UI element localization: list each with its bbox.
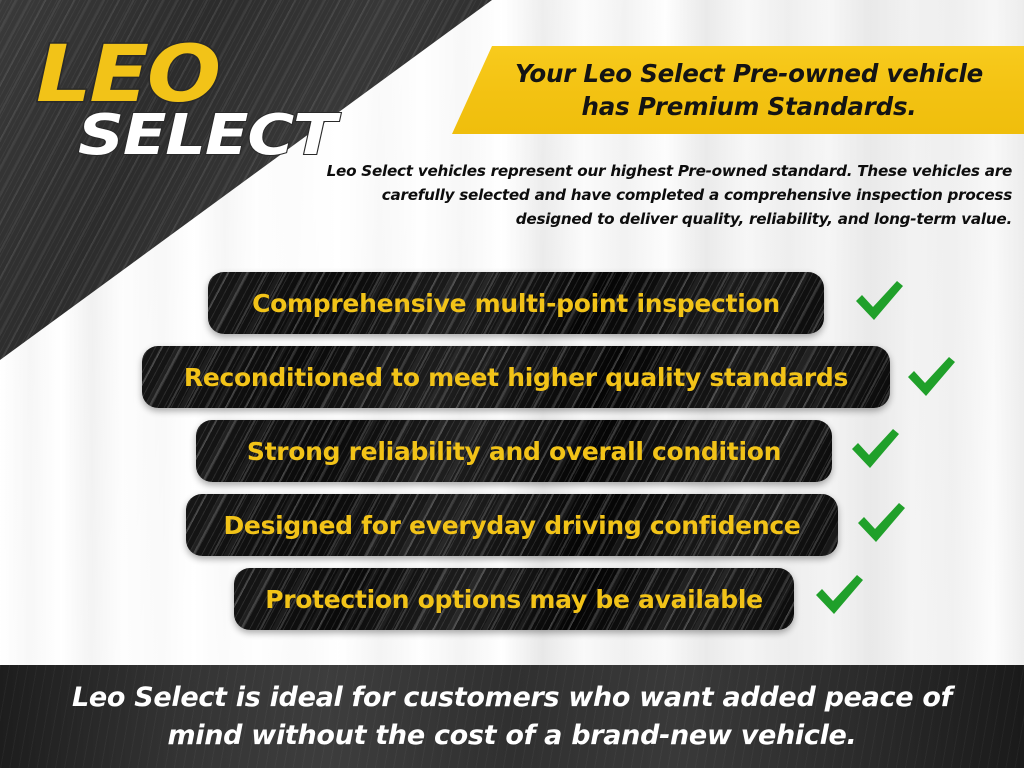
check-mark-icon bbox=[848, 426, 902, 472]
feature-pill: Strong reliability and overall condition bbox=[196, 420, 832, 482]
feature-label: Protection options may be available bbox=[265, 585, 763, 614]
leo-select-promo-poster: LEO SELECT Your Leo Select Pre-owned veh… bbox=[0, 0, 1024, 768]
feature-label: Reconditioned to meet higher quality sta… bbox=[184, 363, 848, 392]
feature-pill: Comprehensive multi-point inspection bbox=[208, 272, 824, 334]
feature-row: Strong reliability and overall condition bbox=[0, 416, 1024, 490]
feature-list: Comprehensive multi-point inspection Rec… bbox=[0, 268, 1024, 638]
feature-row: Designed for everyday driving confidence bbox=[0, 490, 1024, 564]
headline-banner: Your Leo Select Pre-owned vehicle has Pr… bbox=[452, 46, 1024, 134]
footer-tagline: Leo Select is ideal for customers who wa… bbox=[62, 679, 962, 755]
footer-banner: Leo Select is ideal for customers who wa… bbox=[0, 665, 1024, 768]
feature-row: Reconditioned to meet higher quality sta… bbox=[0, 342, 1024, 416]
description-paragraph: Leo Select vehicles represent our highes… bbox=[306, 159, 1012, 231]
logo-text-select: SELECT bbox=[78, 108, 335, 164]
leo-select-logo: LEO SELECT bbox=[34, 36, 334, 176]
feature-row: Comprehensive multi-point inspection bbox=[0, 268, 1024, 342]
feature-pill: Reconditioned to meet higher quality sta… bbox=[142, 346, 890, 408]
feature-pill: Designed for everyday driving confidence bbox=[186, 494, 838, 556]
check-mark-icon bbox=[904, 354, 958, 400]
feature-label: Strong reliability and overall condition bbox=[247, 437, 781, 466]
feature-pill: Protection options may be available bbox=[234, 568, 794, 630]
headline-text: Your Leo Select Pre-owned vehicle has Pr… bbox=[489, 57, 1009, 123]
check-mark-icon bbox=[854, 500, 908, 546]
feature-label: Comprehensive multi-point inspection bbox=[252, 289, 780, 318]
feature-row: Protection options may be available bbox=[0, 564, 1024, 638]
check-mark-icon bbox=[852, 278, 906, 324]
feature-label: Designed for everyday driving confidence bbox=[223, 511, 800, 540]
check-mark-icon bbox=[812, 572, 866, 618]
